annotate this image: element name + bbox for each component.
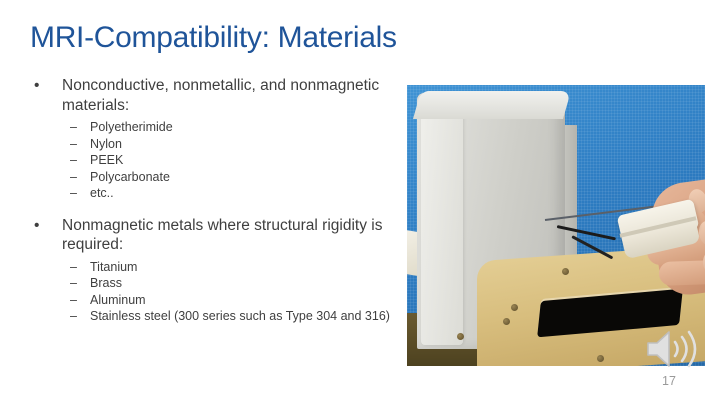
page-title: MRI-Compatibility: Materials xyxy=(30,20,630,56)
dash-marker-icon: – xyxy=(70,169,77,186)
photo-screw xyxy=(597,355,604,362)
photo-screw xyxy=(503,318,510,325)
dash-marker-icon: – xyxy=(70,275,77,292)
list-item: – Aluminum xyxy=(28,292,400,309)
slide: MRI-Compatibility: Materials • Nonconduc… xyxy=(0,0,720,405)
page-number: 17 xyxy=(662,374,692,388)
bullet-group: • Nonmagnetic metals where structural ri… xyxy=(28,216,400,325)
bullet-heading-label: Nonconductive, nonmetallic, and nonmagne… xyxy=(62,77,379,114)
list-item: – Polycarbonate xyxy=(28,169,400,186)
photo-screw xyxy=(562,268,569,275)
list-item-label: PEEK xyxy=(90,153,123,167)
photo-housing-top xyxy=(413,91,571,119)
bullet-dot-icon: • xyxy=(34,76,39,96)
sub-bullet-list: – Polyetherimide – Nylon – PEEK – Polyca… xyxy=(28,119,400,202)
content-body: • Nonconductive, nonmetallic, and nonmag… xyxy=(28,76,400,339)
list-item-label: etc.. xyxy=(90,186,114,200)
bullet-heading: • Nonconductive, nonmetallic, and nonmag… xyxy=(28,76,400,115)
photo-housing-face xyxy=(421,107,463,345)
photo-screw xyxy=(511,304,518,311)
list-item: – PEEK xyxy=(28,152,400,169)
list-item-label: Polyetherimide xyxy=(90,120,173,134)
list-item: – etc.. xyxy=(28,185,400,202)
dash-marker-icon: – xyxy=(70,185,77,202)
list-item-label: Polycarbonate xyxy=(90,170,170,184)
dash-marker-icon: – xyxy=(70,119,77,136)
photo-finger xyxy=(659,260,705,286)
list-item-label: Titanium xyxy=(90,260,137,274)
list-item-label: Brass xyxy=(90,276,122,290)
list-item: – Nylon xyxy=(28,136,400,153)
list-item-label: Aluminum xyxy=(90,293,146,307)
bullet-group: • Nonconductive, nonmetallic, and nonmag… xyxy=(28,76,400,202)
dash-marker-icon: – xyxy=(70,308,77,325)
bullet-dot-icon: • xyxy=(34,216,39,236)
list-item: – Polyetherimide xyxy=(28,119,400,136)
dash-marker-icon: – xyxy=(70,259,77,276)
dash-marker-icon: – xyxy=(70,152,77,169)
list-item: – Stainless steel (300 series such as Ty… xyxy=(28,308,400,325)
list-item-label: Nylon xyxy=(90,137,122,151)
device-photograph xyxy=(407,85,705,366)
sub-bullet-list: – Titanium – Brass – Aluminum – Stainles… xyxy=(28,259,400,325)
bullet-heading-label: Nonmagnetic metals where structural rigi… xyxy=(62,217,382,254)
list-item: – Brass xyxy=(28,275,400,292)
bullet-heading: • Nonmagnetic metals where structural ri… xyxy=(28,216,400,255)
list-item: – Titanium xyxy=(28,259,400,276)
dash-marker-icon: – xyxy=(70,292,77,309)
dash-marker-icon: – xyxy=(70,136,77,153)
speaker-audio-icon[interactable] xyxy=(644,328,702,370)
photo-screw xyxy=(457,333,464,340)
list-item-label: Stainless steel (300 series such as Type… xyxy=(90,309,390,323)
